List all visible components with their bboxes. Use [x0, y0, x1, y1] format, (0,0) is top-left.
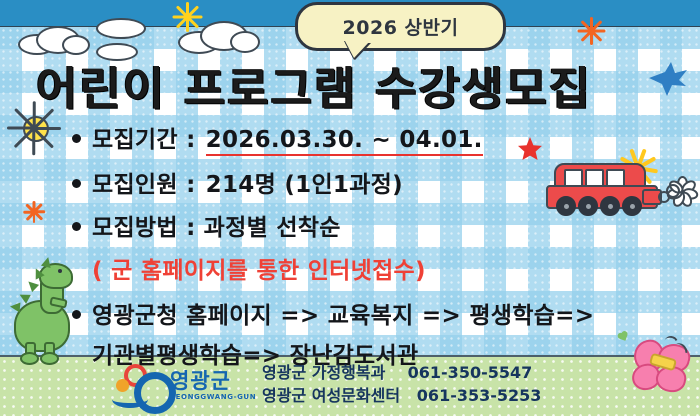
list-item: 모집방법 : 과정별 선착순: [72, 208, 692, 242]
star-burst-orange: [576, 16, 606, 46]
page-title: 어린이 프로그램 수강생모집: [36, 52, 656, 117]
notice-text: ( 군 홈페이지를 통한 인터넷접수): [92, 251, 692, 285]
logo-wave-icon: [112, 391, 148, 408]
logo-name-en: YEONGGWANG-GUN: [170, 394, 256, 401]
contact-phone: 061-353-5253: [417, 386, 542, 405]
path-line-1: 영광군청 홈페이지 => 교육복지 => 평생학습=>: [72, 296, 692, 330]
list-item: 모집인원 : 214명 (1인1과정): [72, 165, 692, 199]
contact-list: 영광군 가정행복과 061-350-5547 영광군 여성문화센터 061-35…: [262, 361, 541, 407]
contact-office: 영광군 가정행복과: [262, 363, 385, 382]
item-label: 모집방법 :: [92, 208, 196, 242]
yeonggwang-gun-logo: 영광군 YEONGGWANG-GUN: [112, 361, 257, 411]
item-value: 214명 (1인1과정): [206, 165, 403, 199]
item-label: 모집기간 :: [92, 120, 196, 154]
list-item: 모집기간 : 2026.03.30. ~ 04.01.: [72, 120, 692, 156]
item-value: 과정별 선착순: [204, 208, 341, 242]
contact-row: 영광군 가정행복과 061-350-5547: [262, 361, 541, 384]
season-badge-text: 2026 상반기: [343, 13, 459, 40]
red-star-icon: [517, 136, 543, 162]
logo-name-ko: 영광군: [170, 371, 256, 392]
season-badge: 2026 상반기: [295, 2, 506, 51]
poster-canvas: 2026 상반기 어린이 프로그램 수강생모집 모집기간 : 2026.03.3…: [0, 0, 700, 416]
contact-row: 영광군 여성문화센터 061-353-5253: [262, 384, 541, 407]
star-burst-yellow: [172, 2, 202, 32]
footer: 영광군 YEONGGWANG-GUN 영광군 가정행복과 061-350-554…: [0, 357, 700, 416]
contact-phone: 061-350-5547: [408, 363, 533, 382]
bird-icon: [645, 60, 689, 98]
path-text: 영광군청 홈페이지 => 교육복지 => 평생학습=>: [92, 296, 594, 330]
bullet-dot-icon: [72, 179, 81, 188]
item-label: 모집인원 :: [92, 165, 196, 199]
bullet-dot-icon: [72, 310, 81, 319]
bullet-dot-icon: [72, 222, 81, 231]
info-list: 모집기간 : 2026.03.30. ~ 04.01. 모집인원 : 214명 …: [72, 120, 692, 370]
speech-bubble-tail: [345, 41, 370, 58]
contact-office: 영광군 여성문화센터: [262, 386, 400, 405]
logo-mark-icon: [112, 364, 170, 408]
item-value: 2026.03.30. ~ 04.01.: [206, 127, 483, 156]
logo-text: 영광군 YEONGGWANG-GUN: [170, 371, 256, 401]
bullet-dot-icon: [72, 134, 81, 143]
star-burst-orange: [22, 200, 46, 224]
